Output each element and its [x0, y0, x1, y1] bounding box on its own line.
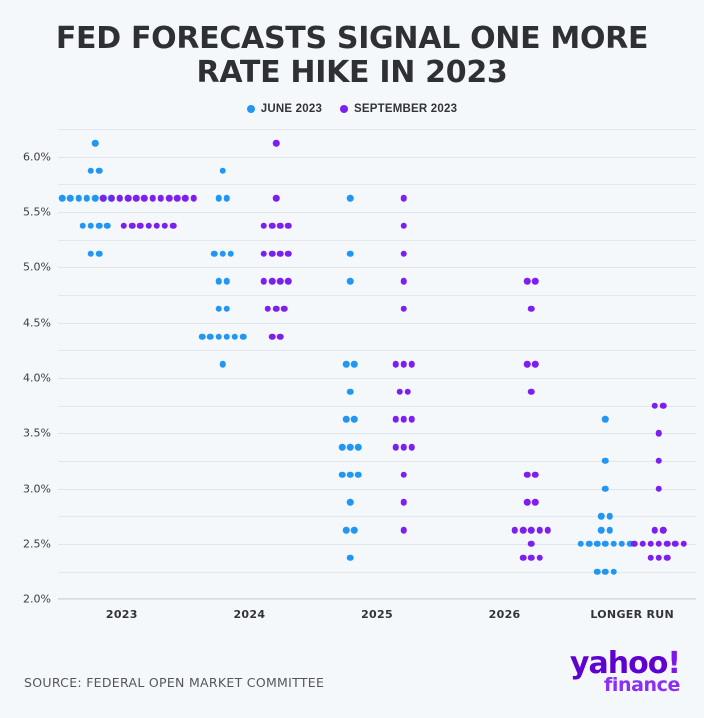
- data-point-dot: [223, 278, 230, 285]
- data-point-dot: [602, 458, 609, 465]
- gridline: [58, 157, 696, 158]
- legend-dot-icon-september: [340, 105, 348, 113]
- data-point-dot: [88, 223, 95, 230]
- data-point-dot: [215, 306, 222, 313]
- data-point-dot: [586, 541, 593, 548]
- data-point-dot: [347, 195, 354, 202]
- data-point-dot: [656, 430, 663, 437]
- data-point-dot: [598, 527, 605, 534]
- data-point-dot: [401, 250, 408, 257]
- data-point-dot: [88, 250, 95, 257]
- data-point-dot: [656, 541, 663, 548]
- data-point-dot: [215, 333, 222, 340]
- data-point-dot: [154, 223, 161, 230]
- data-point-dot: [261, 223, 268, 230]
- gridline: [58, 323, 696, 324]
- data-point-dot: [532, 361, 539, 368]
- data-point-dot: [273, 306, 280, 313]
- data-point-dot: [162, 223, 169, 230]
- data-point-dot: [652, 402, 659, 409]
- data-point-dot: [656, 554, 663, 561]
- y-axis-tick-label: 4.5%: [23, 316, 51, 329]
- chart-legend: JUNE 2023 SEPTEMBER 2023: [0, 103, 704, 115]
- data-point-dot: [285, 278, 292, 285]
- data-point-dot: [79, 223, 86, 230]
- data-point-dot: [520, 527, 527, 534]
- data-point-dot: [664, 541, 671, 548]
- data-point-dot: [273, 195, 280, 202]
- data-point-dot: [355, 444, 362, 451]
- data-point-dot: [594, 568, 601, 575]
- data-point-dot: [121, 223, 128, 230]
- data-point-dot: [594, 541, 601, 548]
- gridline: [58, 240, 696, 241]
- data-point-dot: [648, 554, 655, 561]
- data-point-dot: [129, 223, 136, 230]
- gridline: [58, 378, 696, 379]
- data-point-dot: [240, 333, 247, 340]
- x-axis-tick-label: LONGER RUN: [590, 608, 674, 621]
- data-point-dot: [149, 195, 156, 202]
- data-point-dot: [145, 223, 152, 230]
- data-point-dot: [520, 554, 527, 561]
- data-point-dot: [347, 472, 354, 479]
- data-point-dot: [170, 223, 177, 230]
- chart-footer: SOURCE: FEDERAL OPEN MARKET COMMITTEE ya…: [0, 622, 704, 718]
- y-axis-tick-label: 5.5%: [23, 206, 51, 219]
- data-point-dot: [219, 361, 226, 368]
- data-point-dot: [355, 472, 362, 479]
- legend-item-june: JUNE 2023: [247, 103, 322, 115]
- data-point-dot: [351, 416, 358, 423]
- y-axis-tick-label: 5.0%: [23, 261, 51, 274]
- x-axis-tick-label: 2026: [489, 608, 521, 621]
- y-axis-tick-label: 2.0%: [23, 593, 51, 606]
- gridline: [58, 406, 696, 407]
- data-point-dot: [96, 223, 103, 230]
- data-point-dot: [285, 223, 292, 230]
- data-point-dot: [96, 250, 103, 257]
- legend-dot-icon-june: [247, 105, 255, 113]
- data-point-dot: [281, 306, 288, 313]
- data-point-dot: [96, 167, 103, 174]
- data-point-dot: [339, 444, 346, 451]
- data-point-dot: [351, 527, 358, 534]
- data-point-dot: [401, 195, 408, 202]
- data-point-dot: [137, 223, 144, 230]
- data-point-dot: [401, 361, 408, 368]
- source-note: SOURCE: FEDERAL OPEN MARKET COMMITTEE: [24, 675, 324, 690]
- data-point-dot: [232, 333, 239, 340]
- data-point-dot: [602, 416, 609, 423]
- data-point-dot: [285, 250, 292, 257]
- gridline: [58, 433, 696, 434]
- data-point-dot: [67, 195, 74, 202]
- data-point-dot: [528, 554, 535, 561]
- data-point-dot: [536, 527, 543, 534]
- logo-yahoo-text: yahoo!: [570, 652, 680, 677]
- data-point-dot: [532, 499, 539, 506]
- data-point-dot: [401, 306, 408, 313]
- data-point-dot: [207, 333, 214, 340]
- data-point-dot: [166, 195, 173, 202]
- yahoo-finance-logo: yahoo! finance: [570, 652, 680, 694]
- data-point-dot: [347, 278, 354, 285]
- data-point-dot: [215, 195, 222, 202]
- data-point-dot: [631, 541, 638, 548]
- data-point-dot: [524, 472, 531, 479]
- data-point-dot: [401, 223, 408, 230]
- data-point-dot: [347, 250, 354, 257]
- gridline: [58, 267, 696, 268]
- data-point-dot: [598, 513, 605, 520]
- chart-page: FED FORECASTS SIGNAL ONE MORE RATE HIKE …: [0, 0, 704, 718]
- data-point-dot: [392, 361, 399, 368]
- data-point-dot: [182, 195, 189, 202]
- data-point-dot: [401, 499, 408, 506]
- data-point-dot: [528, 389, 535, 396]
- data-point-dot: [347, 499, 354, 506]
- y-axis-tick-label: 4.0%: [23, 372, 51, 385]
- data-point-dot: [88, 167, 95, 174]
- data-point-dot: [223, 333, 230, 340]
- data-point-dot: [108, 195, 115, 202]
- data-point-dot: [211, 250, 218, 257]
- data-point-dot: [578, 541, 585, 548]
- legend-label-june: JUNE 2023: [261, 103, 322, 115]
- gridline: [58, 295, 696, 296]
- data-point-dot: [610, 568, 617, 575]
- data-point-dot: [351, 361, 358, 368]
- data-point-dot: [277, 333, 284, 340]
- gridline: [58, 489, 696, 490]
- data-point-dot: [639, 541, 646, 548]
- data-point-dot: [656, 485, 663, 492]
- data-point-dot: [392, 416, 399, 423]
- data-point-dot: [524, 499, 531, 506]
- data-point-dot: [528, 527, 535, 534]
- data-point-dot: [672, 541, 679, 548]
- legend-label-september: SEPTEMBER 2023: [354, 103, 457, 115]
- data-point-dot: [133, 195, 140, 202]
- data-point-dot: [610, 541, 617, 548]
- data-point-dot: [269, 223, 276, 230]
- data-point-dot: [652, 527, 659, 534]
- data-point-dot: [84, 195, 91, 202]
- data-point-dot: [648, 541, 655, 548]
- data-point-dot: [158, 195, 165, 202]
- x-axis-tick-label: 2025: [361, 608, 393, 621]
- data-point-dot: [261, 278, 268, 285]
- data-point-dot: [602, 568, 609, 575]
- data-point-dot: [664, 554, 671, 561]
- y-axis-tick-label: 6.0%: [23, 150, 51, 163]
- data-point-dot: [528, 306, 535, 313]
- y-axis-tick-label: 3.5%: [23, 427, 51, 440]
- data-point-dot: [347, 554, 354, 561]
- data-point-dot: [347, 444, 354, 451]
- data-point-dot: [277, 278, 284, 285]
- data-point-dot: [405, 389, 412, 396]
- data-point-dot: [219, 167, 226, 174]
- gridline: [58, 461, 696, 462]
- data-point-dot: [602, 485, 609, 492]
- data-point-dot: [104, 223, 111, 230]
- data-point-dot: [190, 195, 197, 202]
- x-axis-tick-label: 2023: [106, 608, 138, 621]
- gridline: [58, 350, 696, 351]
- y-axis-tick-label: 3.0%: [23, 482, 51, 495]
- data-point-dot: [117, 195, 124, 202]
- plot-area: 2.0%2.5%3.0%3.5%4.0%4.5%5.0%5.5%6.0% 202…: [0, 129, 704, 599]
- data-point-dot: [75, 195, 82, 202]
- data-point-dot: [339, 472, 346, 479]
- data-point-dot: [401, 444, 408, 451]
- data-point-dot: [347, 389, 354, 396]
- gridline: [58, 184, 696, 185]
- data-point-dot: [269, 278, 276, 285]
- data-point-dot: [273, 140, 280, 147]
- scatter-plot: 2.0%2.5%3.0%3.5%4.0%4.5%5.0%5.5%6.0%: [58, 129, 696, 599]
- data-point-dot: [343, 416, 350, 423]
- y-axis-tick-label: 2.5%: [23, 537, 51, 550]
- data-point-dot: [277, 250, 284, 257]
- data-point-dot: [125, 195, 132, 202]
- page-title: FED FORECASTS SIGNAL ONE MORE RATE HIKE …: [0, 0, 704, 89]
- data-point-dot: [532, 472, 539, 479]
- data-point-dot: [215, 278, 222, 285]
- data-point-dot: [528, 541, 535, 548]
- data-point-dot: [524, 361, 531, 368]
- x-axis-tick-label: 2024: [233, 608, 265, 621]
- data-point-dot: [532, 278, 539, 285]
- data-point-dot: [100, 195, 107, 202]
- data-point-dot: [409, 416, 416, 423]
- data-point-dot: [228, 250, 235, 257]
- data-point-dot: [524, 278, 531, 285]
- data-point-dot: [401, 527, 408, 534]
- data-point-dot: [269, 250, 276, 257]
- data-point-dot: [199, 333, 206, 340]
- data-point-dot: [265, 306, 272, 313]
- data-point-dot: [680, 541, 687, 548]
- data-point-dot: [396, 389, 403, 396]
- data-point-dot: [92, 140, 99, 147]
- data-point-dot: [619, 541, 626, 548]
- data-point-dot: [223, 306, 230, 313]
- data-point-dot: [223, 195, 230, 202]
- data-point-dot: [343, 361, 350, 368]
- data-point-dot: [536, 554, 543, 561]
- data-point-dot: [660, 527, 667, 534]
- gridline: [58, 212, 696, 213]
- legend-item-september: SEPTEMBER 2023: [340, 103, 457, 115]
- data-point-dot: [401, 416, 408, 423]
- data-point-dot: [656, 458, 663, 465]
- data-point-dot: [59, 195, 66, 202]
- data-point-dot: [392, 444, 399, 451]
- data-point-dot: [343, 527, 350, 534]
- data-point-dot: [606, 513, 613, 520]
- data-point-dot: [401, 472, 408, 479]
- data-point-dot: [219, 250, 226, 257]
- data-point-dot: [660, 402, 667, 409]
- data-point-dot: [141, 195, 148, 202]
- data-point-dot: [409, 444, 416, 451]
- data-point-dot: [277, 223, 284, 230]
- data-point-dot: [409, 361, 416, 368]
- data-point-dot: [606, 527, 613, 534]
- data-point-dot: [545, 527, 552, 534]
- gridline: [58, 129, 696, 130]
- data-point-dot: [401, 278, 408, 285]
- data-point-dot: [174, 195, 181, 202]
- data-point-dot: [512, 527, 519, 534]
- data-point-dot: [92, 195, 99, 202]
- data-point-dot: [602, 541, 609, 548]
- data-point-dot: [269, 333, 276, 340]
- data-point-dot: [261, 250, 268, 257]
